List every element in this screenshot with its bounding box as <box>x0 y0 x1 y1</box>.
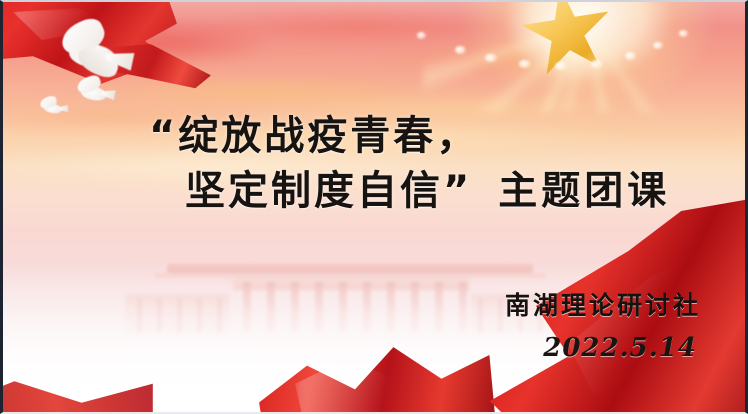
slide-title: “绽放战疫青春， 坚定制度自信” 主题团课 <box>3 109 748 219</box>
light-bead-icon <box>591 60 603 68</box>
light-bead-icon <box>555 62 567 70</box>
title-line-1: “绽放战疫青春， <box>3 109 748 164</box>
presentation-date: 2022.5.14 <box>505 333 697 363</box>
light-bead-icon <box>519 60 531 68</box>
organization-name: 南湖理论研讨社 <box>505 286 701 322</box>
light-bead-icon <box>625 52 636 60</box>
presentation-title-slide: “绽放战疫青春， 坚定制度自信” 主题团课 南湖理论研讨社 2022.5.14 <box>0 0 748 414</box>
organization-block: 南湖理论研讨社 2022.5.14 <box>505 286 701 363</box>
light-bead-icon <box>679 30 688 37</box>
light-bead-icon <box>485 54 497 62</box>
light-bead-icon <box>653 42 663 49</box>
subject-label: 主题团课 <box>498 164 670 219</box>
title-line-2-row: 坚定制度自信” 主题团课 <box>3 164 748 219</box>
light-bead-icon <box>417 32 426 39</box>
light-bead-icon <box>455 46 466 54</box>
title-line-2: 坚定制度自信” <box>185 164 472 219</box>
dove-medium-icon <box>71 77 115 105</box>
dove-large-icon <box>47 20 133 82</box>
